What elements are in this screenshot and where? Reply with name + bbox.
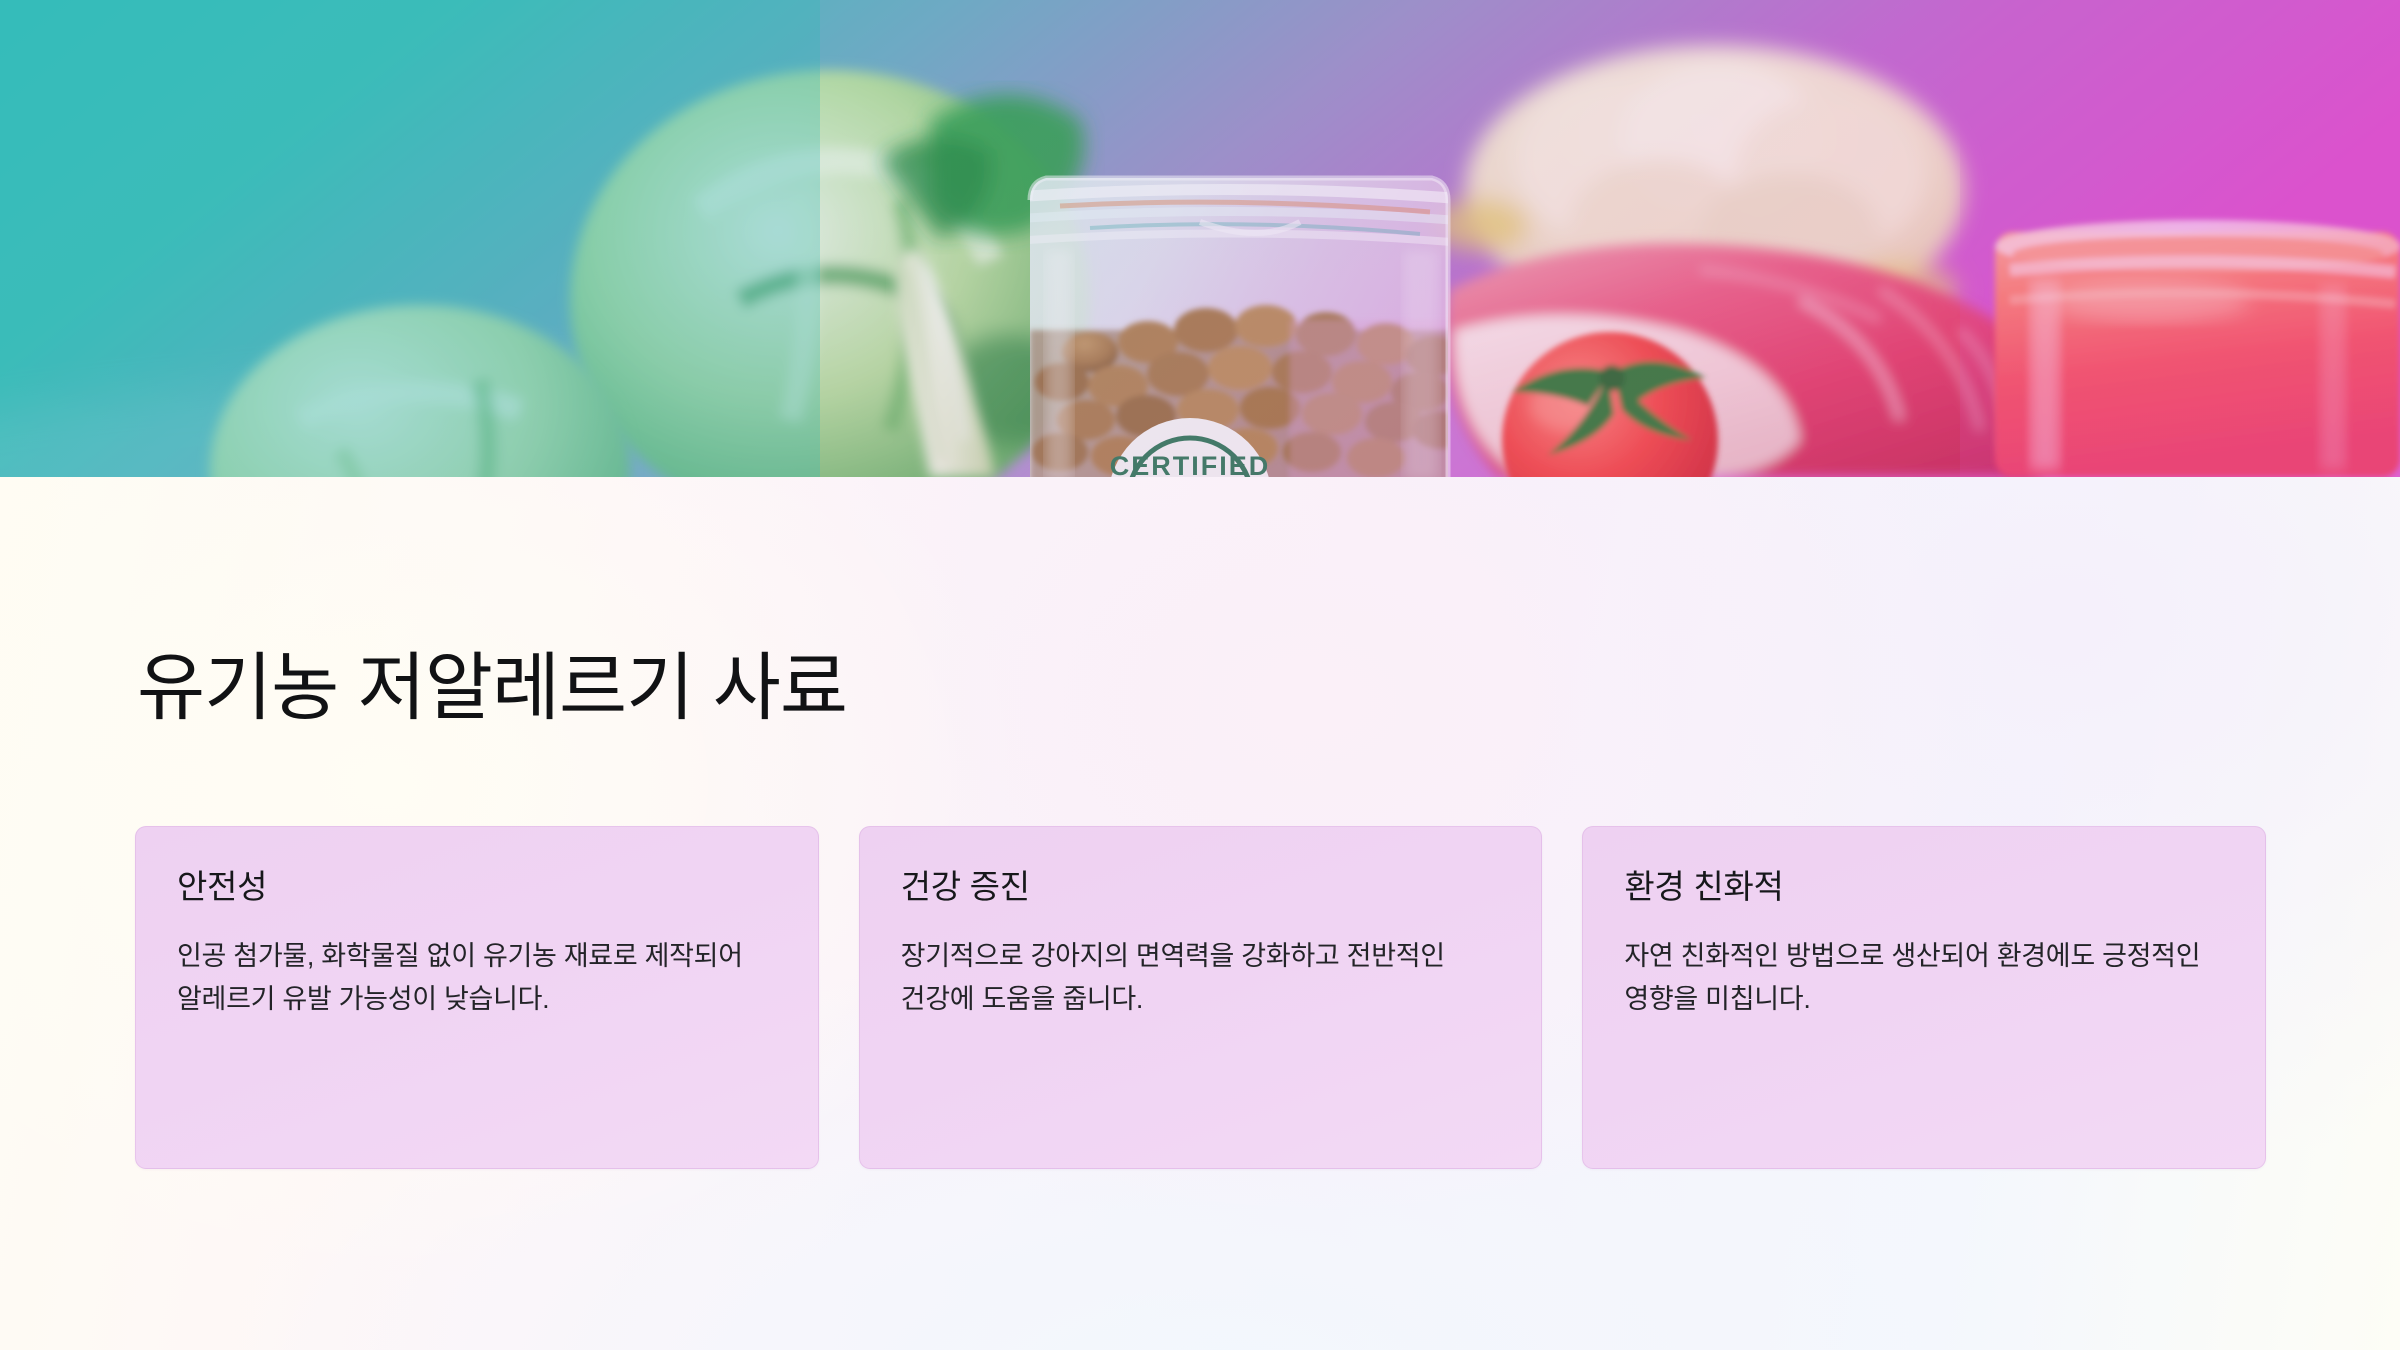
feature-card-title: 환경 친화적 xyxy=(1624,867,2224,907)
hero-food-photo: CERTIFIED xyxy=(0,0,2400,477)
feature-card-body: 장기적으로 강아지의 면역력을 강화하고 전반적인 건강에 도움을 줍니다. xyxy=(901,935,1501,1022)
feature-card-health: 건강 증진 장기적으로 강아지의 면역력을 강화하고 전반적인 건강에 도움을 … xyxy=(859,826,1543,1169)
feature-card-title: 안전성 xyxy=(177,867,777,907)
feature-card-list: 안전성 인공 첨가물, 화학물질 없이 유기농 재료로 제작되어 알레르기 유발… xyxy=(135,826,2266,1169)
feature-card-safety: 안전성 인공 첨가물, 화학물질 없이 유기농 재료로 제작되어 알레르기 유발… xyxy=(135,826,819,1169)
page-title: 유기농 저알레르기 사료 xyxy=(137,649,847,727)
feature-card-eco: 환경 친화적 자연 친화적인 방법으로 생산되어 환경에도 긍정적인 영향을 미… xyxy=(1582,826,2266,1169)
feature-card-body: 인공 첨가물, 화학물질 없이 유기농 재료로 제작되어 알레르기 유발 가능성… xyxy=(177,935,777,1022)
hero-banner: CERTIFIED xyxy=(0,0,2400,477)
feature-card-title: 건강 증진 xyxy=(901,867,1501,907)
feature-card-body: 자연 친화적인 방법으로 생산되어 환경에도 긍정적인 영향을 미칩니다. xyxy=(1624,935,2224,1022)
page-root: CERTIFIED xyxy=(0,0,2400,1350)
main-content: 유기농 저알레르기 사료 안전성 인공 첨가물, 화학물질 없이 유기농 재료로… xyxy=(0,477,2400,1350)
